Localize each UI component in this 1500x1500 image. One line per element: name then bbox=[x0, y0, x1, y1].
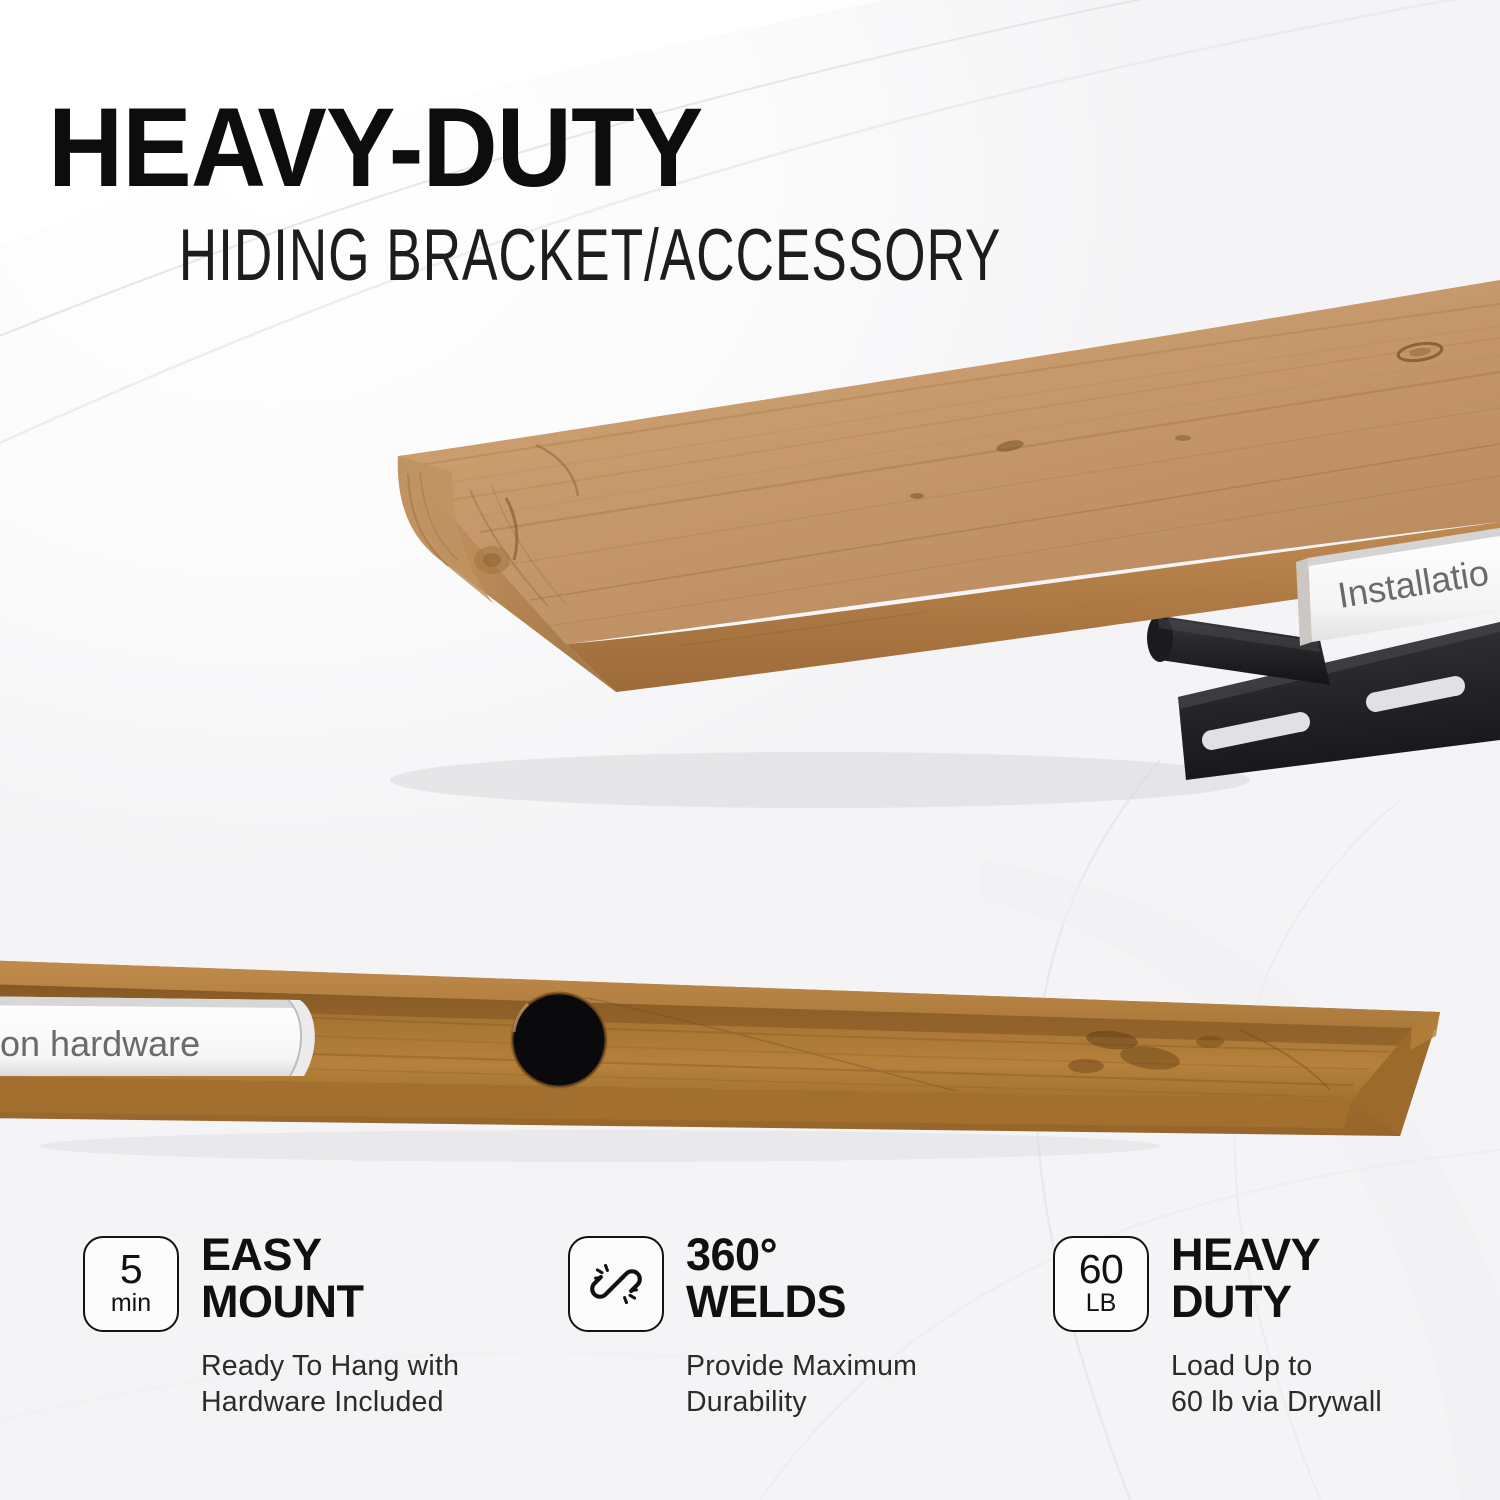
feature-title: HEAVY DUTY bbox=[1171, 1232, 1382, 1326]
feature-title: EASY MOUNT bbox=[201, 1232, 459, 1326]
page-title: HEAVY-DUTY bbox=[48, 96, 1071, 199]
feature-title: 360° WELDS bbox=[686, 1232, 917, 1326]
product-photo-bottom: ion hardware bbox=[0, 900, 1500, 1200]
feature-row: 5 min EASY MOUNT Ready To Hang with Hard… bbox=[0, 1232, 1500, 1421]
badge-value: 60 bbox=[1079, 1250, 1124, 1289]
product-marketing-image: HEAVY-DUTY HIDING BRACKET/ACCESSORY bbox=[0, 0, 1500, 1500]
feature-heavy-duty: 60 LB HEAVY DUTY Load Up to 60 lb via Dr… bbox=[1053, 1232, 1473, 1421]
feature-description: Load Up to 60 lb via Drywall bbox=[1171, 1348, 1382, 1421]
badge-60-lb: 60 LB bbox=[1053, 1236, 1149, 1332]
feature-easy-mount: 5 min EASY MOUNT Ready To Hang with Hard… bbox=[83, 1232, 553, 1421]
chain-link-icon bbox=[587, 1255, 645, 1313]
shelf-back-board: ion hardware bbox=[0, 960, 1440, 1136]
feature-text: 360° WELDS Provide Maximum Durability bbox=[686, 1232, 917, 1421]
badge-value: 5 bbox=[120, 1250, 142, 1289]
feature-description: Provide Maximum Durability bbox=[686, 1348, 917, 1421]
headline-block: HEAVY-DUTY HIDING BRACKET/ACCESSORY bbox=[48, 96, 1148, 285]
hardware-card: ion hardware bbox=[0, 996, 315, 1076]
mounting-hole bbox=[512, 993, 606, 1087]
badge-chain-link bbox=[568, 1236, 664, 1332]
badge-unit: LB bbox=[1086, 1290, 1117, 1318]
product-photo-top: Installatio bbox=[0, 260, 1500, 830]
badge-unit: min bbox=[111, 1290, 151, 1318]
feature-360-welds: 360° WELDS Provide Maximum Durability bbox=[568, 1232, 1038, 1421]
hardware-card-label: ion hardware bbox=[0, 1023, 200, 1064]
feature-description: Ready To Hang with Hardware Included bbox=[201, 1348, 459, 1421]
badge-5-min: 5 min bbox=[83, 1236, 179, 1332]
feature-text: HEAVY DUTY Load Up to 60 lb via Drywall bbox=[1171, 1232, 1382, 1421]
feature-text: EASY MOUNT Ready To Hang with Hardware I… bbox=[201, 1232, 459, 1421]
